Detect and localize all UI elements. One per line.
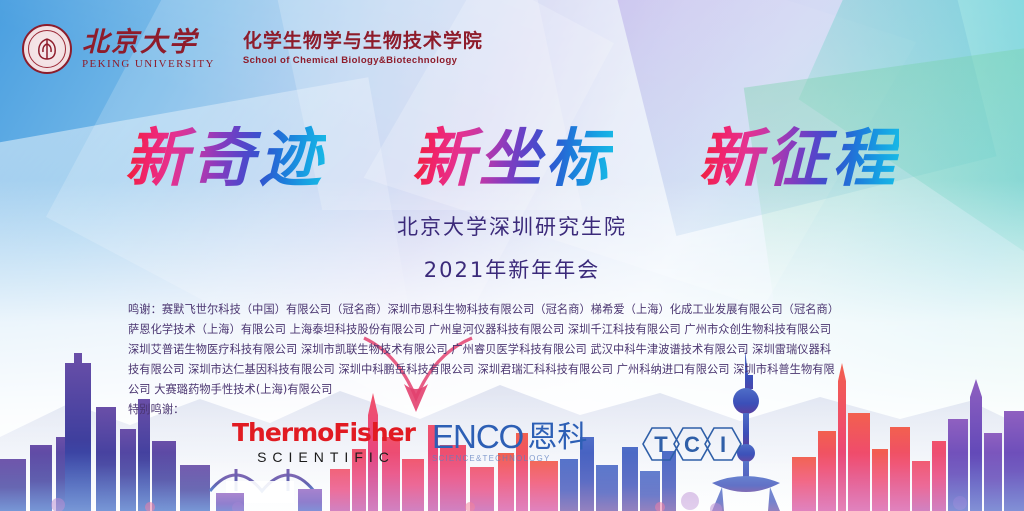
header-logo-bar: 北京大学 PEKING UNIVERSITY 化学生物学与生物技术学院 Scho… xyxy=(22,24,483,74)
school-name-block: 化学生物学与生物技术学院 School of Chemical Biology&… xyxy=(243,32,483,66)
sponsor-line: 技有限公司 深圳市达仁基因科技有限公司 深圳中科鹏岳科技有限公司 深圳君瑞汇科科… xyxy=(128,360,918,380)
thermofisher-wordmark: ThermoFisher xyxy=(232,420,415,445)
title-part-2: 新坐标 xyxy=(412,121,613,195)
thermofisher-logo: ThermoFisher SCIENTIFIC xyxy=(232,420,415,465)
enco-tagline: SCIENCE&TECHNOLOGY xyxy=(432,454,587,463)
school-name-cn: 化学生物学与生物技术学院 xyxy=(243,32,483,51)
pku-name-block: 北京大学 PEKING UNIVERSITY xyxy=(82,29,215,70)
enco-wordmark-cn: 恩科 xyxy=(527,423,587,453)
tci-letter-i: I xyxy=(720,432,726,457)
sponsor-line: 萨恩化学技术（上海）有限公司 上海泰坦科技股份有限公司 广州皇河仪器科技有限公司… xyxy=(128,320,918,340)
poster-canvas: 北京大学 PEKING UNIVERSITY 化学生物学与生物技术学院 Scho… xyxy=(0,0,1024,511)
sponsor-line: 公司 大赛璐药物手性技术(上海)有限公司 xyxy=(128,380,918,400)
pku-seal-icon xyxy=(22,24,72,74)
title-part-3: 新征程 xyxy=(698,121,899,195)
partner-logo-row: ThermoFisher SCIENTIFIC ENCO 恩科 SCIENCE&… xyxy=(0,418,1024,478)
enco-wordmark-row: ENCO 恩科 xyxy=(432,420,587,453)
sponsor-line: 深圳艾普诺生物医疗科技有限公司 深圳市凯联生物技术有限公司 广州睿贝医学科技有限… xyxy=(128,340,918,360)
subtitle-line-1: 北京大学深圳研究生院 xyxy=(0,211,1024,241)
subtitle-line-2: 2021年新年年会 xyxy=(0,254,1024,284)
enco-wordmark-en: ENCO xyxy=(432,420,523,453)
enco-logo: ENCO 恩科 SCIENCE&TECHNOLOGY xyxy=(432,420,587,463)
special-thanks-label: 特别鸣谢： xyxy=(128,400,918,420)
tci-letter-t: T xyxy=(654,432,668,457)
tci-logo: T C I xyxy=(634,422,744,466)
sponsor-line: 鸣谢：赛默飞世尔科技（中国）有限公司（冠名商）深圳市恩科生物科技有限公司（冠名商… xyxy=(128,300,918,320)
university-name-cn: 北京大学 xyxy=(82,29,215,56)
thermofisher-tagline: SCIENTIFIC xyxy=(237,449,415,465)
sponsor-acknowledgements: 鸣谢：赛默飞世尔科技（中国）有限公司（冠名商）深圳市恩科生物科技有限公司（冠名商… xyxy=(128,300,918,420)
university-name-en: PEKING UNIVERSITY xyxy=(82,59,215,70)
tci-letter-c: C xyxy=(684,432,700,457)
page-title: 新奇迹 新坐标 新征程 xyxy=(0,108,1024,199)
title-part-1: 新奇迹 xyxy=(125,121,326,195)
school-name-en: School of Chemical Biology&Biotechnology xyxy=(243,56,483,66)
